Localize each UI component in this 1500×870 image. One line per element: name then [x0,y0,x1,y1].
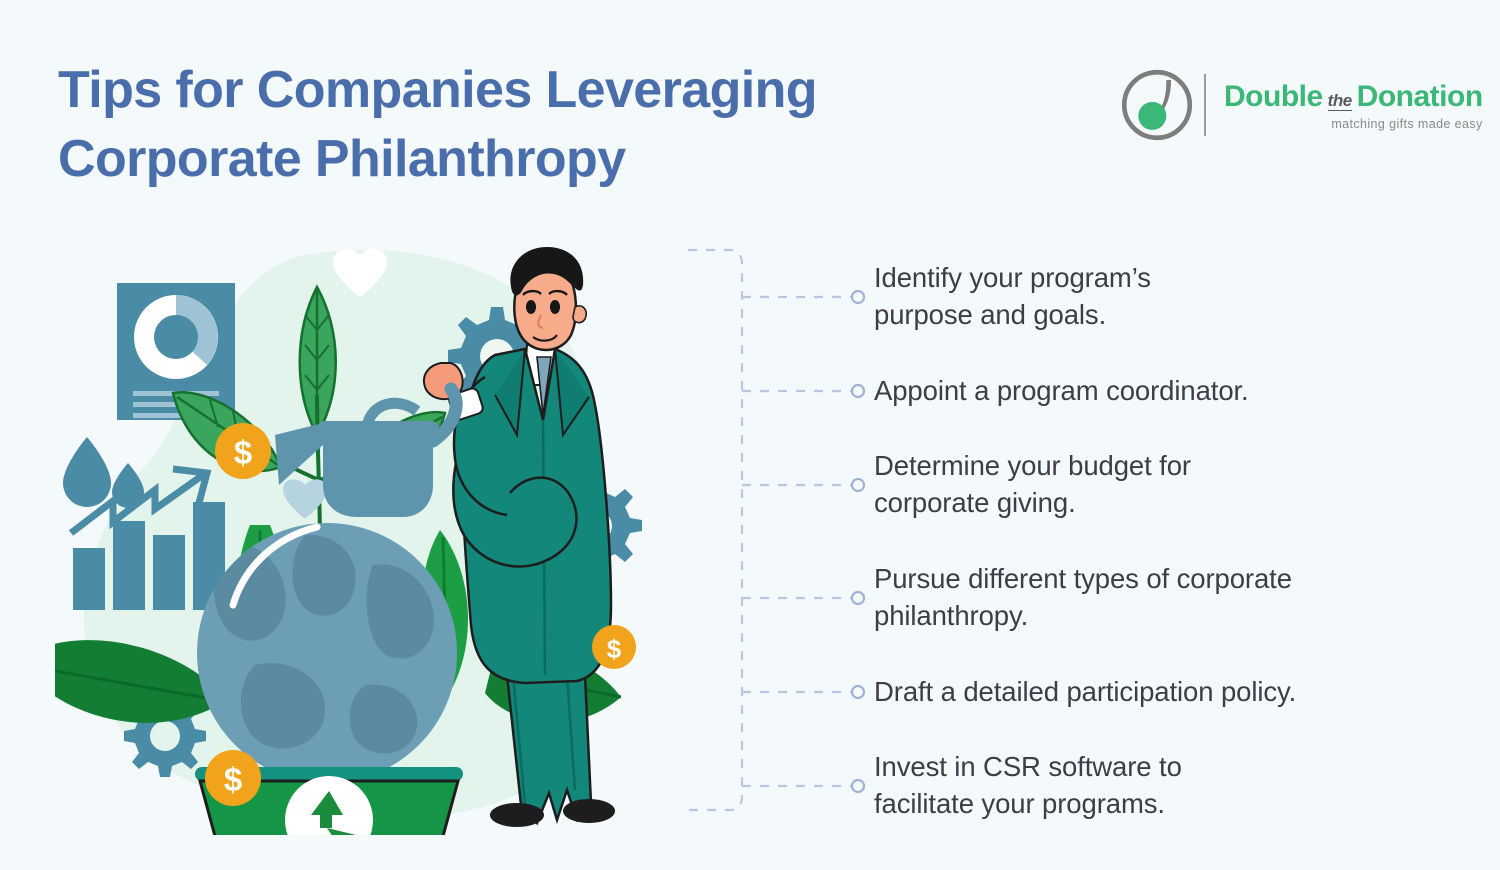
page-title-line-2: Corporate Philanthropy [58,125,1058,194]
connector-node-2 [852,385,864,397]
svg-text:$: $ [224,761,242,798]
logo-word-donation: Donation [1357,82,1483,112]
svg-text:$: $ [234,434,252,471]
water-drop-icons [63,437,144,508]
tip-item-2-line-1: Appoint a program coordinator. [874,373,1474,410]
tip-item-4: Pursue different types of corporate phil… [874,561,1474,635]
tip-item-6: Invest in CSR software to facilitate you… [874,749,1474,823]
tip-item-4-line-1: Pursue different types of corporate [874,561,1474,598]
connector-node-5 [852,686,864,698]
logo-word-the: the [1328,92,1352,111]
connector-tree [680,240,880,840]
connector-spine [688,250,742,810]
earth-globe-icon [197,523,457,783]
tip-item-5: Draft a detailed participation policy. [874,674,1474,711]
brand-logo[interactable]: Double the Donation matching gifts made … [1118,62,1478,148]
tip-item-1-line-1: Identify your program’s [874,260,1474,297]
tips-list: Identify your program’s purpose and goal… [874,248,1474,838]
double-the-donation-droplet-logo-icon [1118,66,1196,144]
infographic-canvas: Tips for Companies Leveraging Corporate … [0,0,1500,870]
logo-wordmark: Double the Donation matching gifts made … [1224,80,1483,131]
logo-tagline: matching gifts made easy [1224,117,1483,131]
tip-item-5-line-1: Draft a detailed participation policy. [874,674,1474,711]
connector-node-1 [852,291,864,303]
tip-item-6-line-1: Invest in CSR software to [874,749,1474,786]
svg-text:$: $ [607,634,622,664]
tip-item-1-line-2: purpose and goals. [874,297,1474,334]
page-title: Tips for Companies Leveraging Corporate … [58,56,1058,193]
connector-node-4 [852,592,864,604]
tip-item-3-line-1: Determine your budget for [874,448,1474,485]
tip-item-6-line-2: facilitate your programs. [874,786,1474,823]
tip-item-3: Determine your budget for corporate givi… [874,448,1474,522]
connector-node-6 [852,780,864,792]
connector-node-3 [852,479,864,491]
tip-item-4-line-2: philanthropy. [874,598,1474,635]
corporate-philanthropy-illustration: $ $ $ [55,245,675,835]
tip-item-1: Identify your program’s purpose and goal… [874,260,1474,334]
page-title-line-1: Tips for Companies Leveraging [58,56,1058,125]
tip-item-3-line-2: corporate giving. [874,485,1474,522]
tip-item-2: Appoint a program coordinator. [874,373,1474,410]
logo-word-double: Double [1224,82,1323,112]
logo-divider [1204,74,1206,136]
